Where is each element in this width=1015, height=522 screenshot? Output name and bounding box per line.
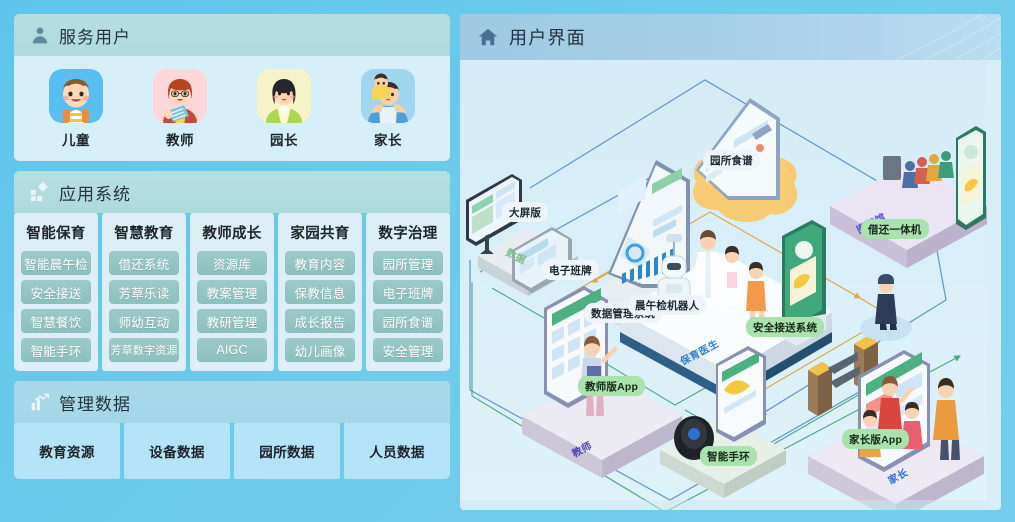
app-column-title: 智慧教育 bbox=[114, 222, 173, 243]
app-column-home-school: 家园共育 教育内容 保教信息 成长报告 幼儿画像 bbox=[278, 213, 362, 371]
app-pill[interactable]: AIGC bbox=[197, 338, 267, 362]
app-root: 服务用户 bbox=[0, 0, 1015, 522]
bar-chart-trend-icon bbox=[30, 392, 50, 412]
user-label: 教师 bbox=[166, 129, 194, 149]
service-users-header: 服务用户 bbox=[14, 14, 450, 56]
app-pill[interactable]: 园所管理 bbox=[373, 251, 443, 275]
app-pill[interactable]: 教研管理 bbox=[197, 309, 267, 333]
app-column-title: 智能保育 bbox=[26, 222, 85, 243]
app-pill[interactable]: 电子班牌 bbox=[373, 280, 443, 304]
manage-data-panel: 管理数据 教育资源 设备数据 园所数据 人员数据 bbox=[14, 381, 450, 479]
service-users-panel: 服务用户 bbox=[14, 14, 450, 161]
label-morning-check-robot[interactable]: 晨午检机器人 bbox=[628, 295, 706, 315]
user-card-child[interactable]: 儿童 bbox=[24, 69, 128, 149]
left-column: 服务用户 bbox=[0, 0, 460, 522]
label-parent-app[interactable]: 家长版App bbox=[842, 429, 909, 449]
service-users-title: 服务用户 bbox=[59, 23, 131, 48]
user-label: 儿童 bbox=[62, 129, 90, 149]
label-e-class-board[interactable]: 电子班牌 bbox=[542, 260, 599, 280]
app-pill[interactable]: 师幼互动 bbox=[109, 309, 179, 333]
app-pill[interactable]: 资源库 bbox=[197, 251, 267, 275]
app-pill[interactable]: 智能晨午检 bbox=[21, 251, 91, 275]
swirl-decoration bbox=[751, 14, 1001, 60]
manage-data-header: 管理数据 bbox=[14, 381, 450, 423]
data-cell[interactable]: 教育资源 bbox=[14, 423, 120, 479]
app-column-smart-education: 智慧教育 借还系统 芳草乐读 师幼互动 芳草数字资源 bbox=[102, 213, 186, 371]
person-icon bbox=[30, 25, 50, 45]
app-pill[interactable]: 芳草数字资源 bbox=[109, 338, 179, 362]
app-pill[interactable]: 教案管理 bbox=[197, 280, 267, 304]
user-label: 园长 bbox=[270, 129, 298, 149]
app-column-title: 家园共育 bbox=[290, 222, 349, 243]
data-cell[interactable]: 设备数据 bbox=[124, 423, 230, 479]
app-pill[interactable]: 成长报告 bbox=[285, 309, 355, 333]
app-column-digital-governance: 数字治理 园所管理 电子班牌 园所食谱 安全管理 bbox=[366, 213, 450, 371]
label-safe-pickup-system[interactable]: 安全接送系统 bbox=[746, 317, 824, 337]
app-pill[interactable]: 智慧餐饮 bbox=[21, 309, 91, 333]
app-pill[interactable]: 芳草乐读 bbox=[109, 280, 179, 304]
right-column: 用户界面 bbox=[460, 0, 1015, 522]
app-pill[interactable]: 智能手环 bbox=[21, 338, 91, 362]
app-systems-header: 应用系统 bbox=[14, 171, 450, 213]
smart-band-phone bbox=[716, 346, 766, 442]
app-pill[interactable]: 保教信息 bbox=[285, 280, 355, 304]
borrow-return-kiosk-device bbox=[956, 126, 986, 230]
label-big-screen[interactable]: 大屏版 bbox=[502, 202, 548, 222]
service-users-body: 儿童 bbox=[14, 56, 450, 161]
label-smart-band[interactable]: 智能手环 bbox=[700, 446, 757, 466]
app-column-title: 教师成长 bbox=[202, 222, 261, 243]
isometric-diagram: 数据 保育医生 图书馆 教师 家长 大屏版 数据管理系统 电子班牌 园所食谱 晨… bbox=[460, 60, 1001, 510]
app-systems-panel: 应用系统 智能保育 智能晨午检 安全接送 智慧餐饮 智能手环 智慧教育 借还系统… bbox=[14, 171, 450, 371]
user-card-principal[interactable]: 园长 bbox=[232, 69, 336, 149]
app-column-smart-care: 智能保育 智能晨午检 安全接送 智慧餐饮 智能手环 bbox=[14, 213, 98, 371]
app-column-title: 数字治理 bbox=[378, 222, 437, 243]
home-icon bbox=[477, 26, 499, 48]
data-cell[interactable]: 园所数据 bbox=[234, 423, 340, 479]
app-pill[interactable]: 教育内容 bbox=[285, 251, 355, 275]
user-card-teacher[interactable]: 教师 bbox=[128, 69, 232, 149]
manage-data-title: 管理数据 bbox=[59, 390, 131, 415]
app-systems-title: 应用系统 bbox=[59, 180, 131, 205]
teacher-avatar bbox=[153, 69, 207, 123]
user-interface-panel: 用户界面 bbox=[460, 14, 1001, 510]
child-avatar bbox=[49, 69, 103, 123]
label-borrow-return-kiosk[interactable]: 借还一体机 bbox=[861, 219, 929, 239]
manage-data-body: 教育资源 设备数据 园所数据 人员数据 bbox=[14, 423, 450, 479]
data-cell[interactable]: 人员数据 bbox=[344, 423, 450, 479]
label-kindergarten-menu[interactable]: 园所食谱 bbox=[703, 150, 760, 170]
app-pill[interactable]: 借还系统 bbox=[109, 251, 179, 275]
app-column-teacher-growth: 教师成长 资源库 教案管理 教研管理 AIGC bbox=[190, 213, 274, 371]
principal-avatar bbox=[257, 69, 311, 123]
user-interface-header: 用户界面 bbox=[460, 14, 1001, 60]
parent-avatar bbox=[361, 69, 415, 123]
label-teacher-app[interactable]: 教师版App bbox=[578, 376, 645, 396]
user-interface-title: 用户界面 bbox=[509, 24, 586, 50]
user-card-parent[interactable]: 家长 bbox=[336, 69, 440, 149]
app-pill[interactable]: 园所食谱 bbox=[373, 309, 443, 333]
app-systems-body: 智能保育 智能晨午检 安全接送 智慧餐饮 智能手环 智慧教育 借还系统 芳草乐读… bbox=[14, 213, 450, 371]
app-pill[interactable]: 安全接送 bbox=[21, 280, 91, 304]
grid-squares-icon bbox=[30, 182, 50, 202]
user-label: 家长 bbox=[374, 129, 402, 149]
app-pill[interactable]: 幼儿画像 bbox=[285, 338, 355, 362]
app-pill[interactable]: 安全管理 bbox=[373, 338, 443, 362]
